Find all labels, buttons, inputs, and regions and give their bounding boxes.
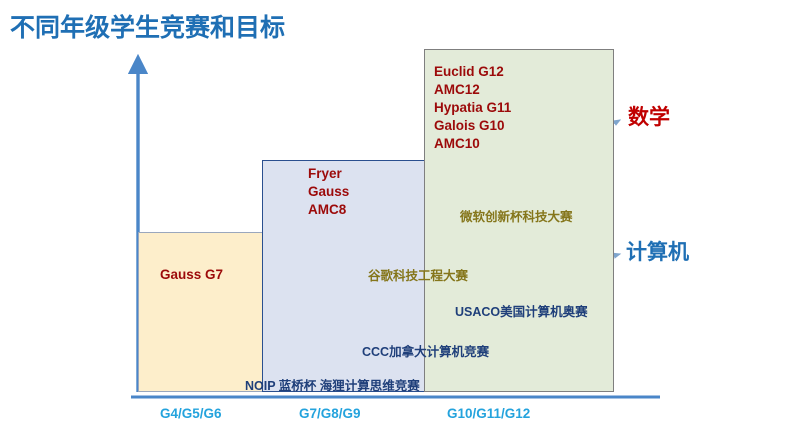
- slide-canvas: 不同年级学生竞赛和目标 Gauss G7 Fryer Gauss AMC8 Eu…: [0, 0, 794, 436]
- annotation-google-science-fair: 谷歌科技工程大赛: [368, 265, 468, 284]
- x-axis-label-g10-g12: G10/G11/G12: [447, 406, 530, 421]
- annotation-noip-group: NOIP 蓝桥杯 海狸计算思维竞赛: [245, 375, 420, 394]
- bar-g4-g6: [138, 232, 264, 392]
- bar-g7-g9-contests: Fryer Gauss AMC8: [308, 165, 349, 219]
- x-axis-label-g7-g9: G7/G8/G9: [299, 406, 361, 421]
- annotation-ccc: CCC加拿大计算机竞赛: [362, 341, 489, 360]
- bar-g10-g12-contests: Euclid G12 AMC12 Hypatia G11 Galois G10 …: [434, 63, 511, 153]
- caption-computer-science: 计算机: [626, 236, 689, 266]
- annotation-microsoft-imagine-cup: 微软创新杯科技大赛: [460, 206, 573, 225]
- annotation-usaco: USACO美国计算机奥赛: [455, 301, 588, 320]
- caption-math: 数学: [628, 101, 670, 131]
- x-axis-label-g4-g6: G4/G5/G6: [160, 406, 222, 421]
- bar-g4-g6-contests: Gauss G7: [160, 266, 223, 284]
